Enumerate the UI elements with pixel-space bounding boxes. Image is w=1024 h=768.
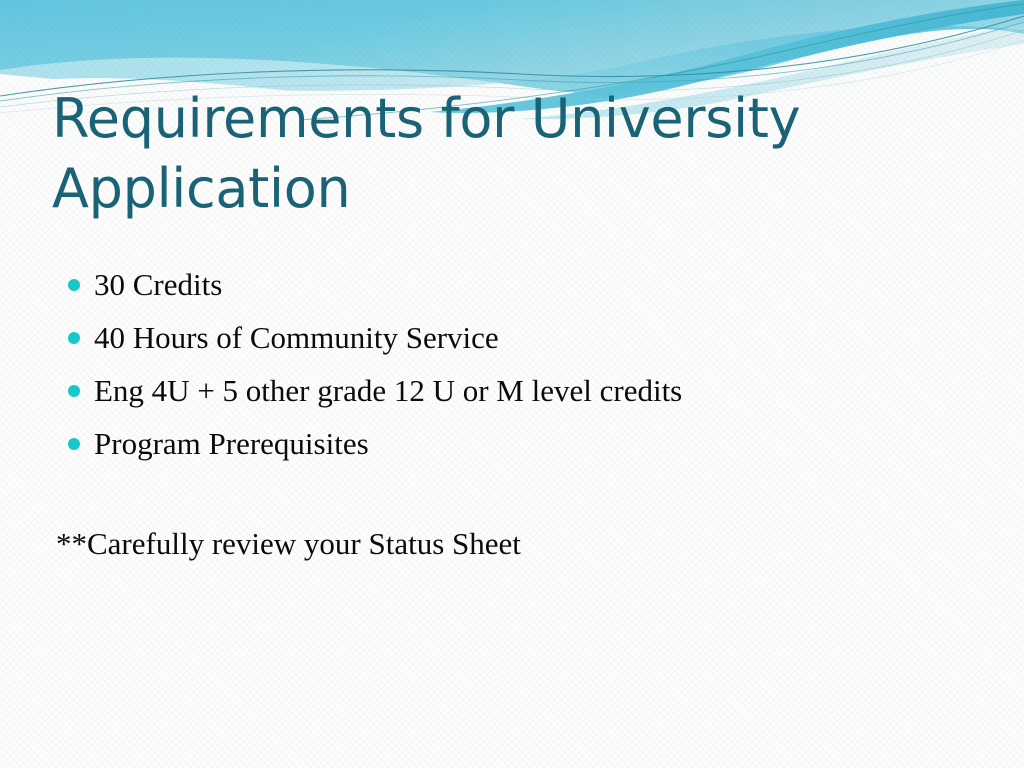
list-item: 30 Credits [56, 258, 956, 311]
requirements-list: 30 Credits 40 Hours of Community Service… [56, 258, 956, 470]
slide-canvas: Requirements for University Application … [0, 0, 1024, 768]
filled-circle-bullet-icon [68, 332, 80, 344]
slide-content: Requirements for University Application … [0, 0, 1024, 768]
list-item: Program Prerequisites [56, 417, 956, 470]
page-title: Requirements for University Application [52, 84, 932, 224]
list-item: 40 Hours of Community Service [56, 311, 956, 364]
list-item: Eng 4U + 5 other grade 12 U or M level c… [56, 364, 956, 417]
list-item-label: Program Prerequisites [94, 426, 369, 461]
list-item-label: 30 Credits [94, 267, 222, 302]
list-item-label: Eng 4U + 5 other grade 12 U or M level c… [94, 373, 682, 408]
list-item-label: 40 Hours of Community Service [94, 320, 499, 355]
status-sheet-note: **Carefully review your Status Sheet [56, 522, 956, 566]
filled-circle-bullet-icon [68, 385, 80, 397]
title-line-1: Requirements for University [52, 84, 932, 154]
filled-circle-bullet-icon [68, 279, 80, 291]
filled-circle-bullet-icon [68, 438, 80, 450]
slide-body: 30 Credits 40 Hours of Community Service… [56, 258, 956, 566]
title-line-2: Application [52, 154, 932, 224]
